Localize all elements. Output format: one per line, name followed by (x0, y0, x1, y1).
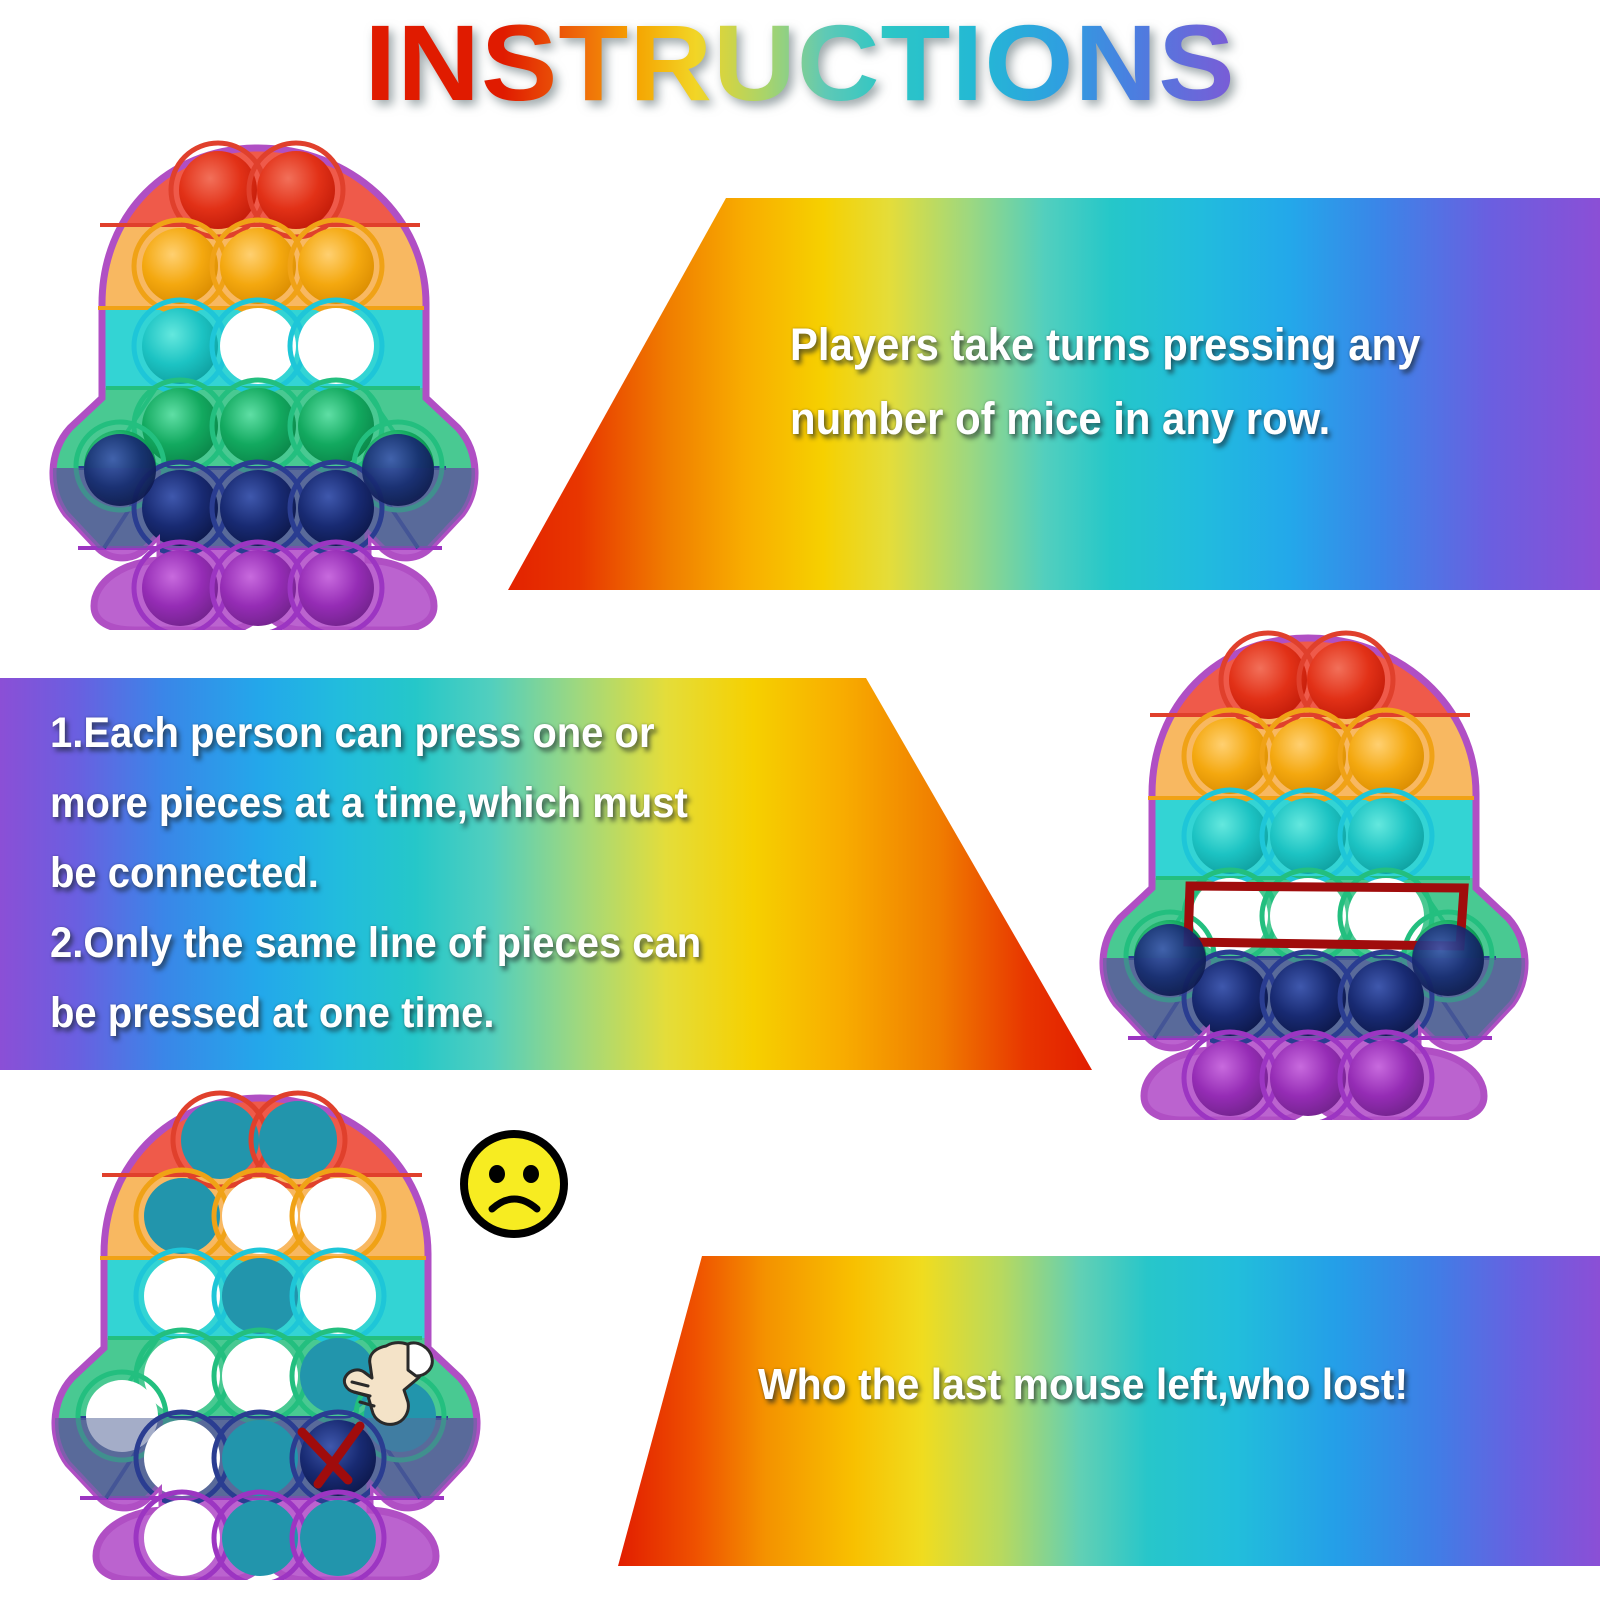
popped-hole (300, 1258, 376, 1334)
sad-face-emoji (455, 1125, 573, 1243)
pop-it-toy-initial[interactable] (28, 130, 488, 630)
mouse-token (259, 1101, 337, 1179)
popped-hole (300, 1178, 376, 1254)
mouse-token (300, 1500, 376, 1576)
mouse-token (222, 1420, 298, 1496)
mouse-token (181, 1101, 259, 1179)
instruction-banner-3: Who the last mouse left,who lost! (618, 1256, 1600, 1566)
mouse-token (222, 1258, 298, 1334)
popped-hole (144, 1420, 220, 1496)
instruction-banner-2: 1.Each person can press one or more piec… (0, 678, 1092, 1070)
popped-hole (222, 1338, 298, 1414)
popped-hole (144, 1258, 220, 1334)
banner-3-text: Who the last mouse left,who lost! (758, 1352, 1576, 1418)
title-container: INSTRUCTIONS (0, 8, 1600, 118)
pointing-hand-icon (330, 1330, 440, 1440)
sad-face-eye-left (489, 1165, 505, 1183)
bubbles-row-purple[interactable] (134, 542, 382, 630)
page-title: INSTRUCTIONS (364, 8, 1235, 118)
bubbles-row-purple[interactable] (1184, 1032, 1432, 1120)
pop-it-svg-1 (28, 130, 488, 630)
pop-it-svg-2 (1078, 620, 1538, 1120)
popped-hole (144, 1500, 220, 1576)
bubbles-row-purple[interactable] (136, 1492, 384, 1580)
popped-hole (298, 308, 374, 384)
pop-it-toy-row-selected[interactable] (1078, 620, 1538, 1120)
banner-1-text: Players take turns pressing any number o… (790, 308, 1525, 456)
instruction-banner-1: Players take turns pressing any number o… (490, 198, 1600, 590)
mouse-token (222, 1500, 298, 1576)
mouse-token (144, 1178, 220, 1254)
sad-face-circle (464, 1134, 564, 1234)
sad-face-eye-right (523, 1165, 539, 1183)
popped-hole (220, 308, 296, 384)
popped-hole (222, 1178, 298, 1254)
banner-2-text: 1.Each person can press one or more piec… (50, 698, 868, 1048)
